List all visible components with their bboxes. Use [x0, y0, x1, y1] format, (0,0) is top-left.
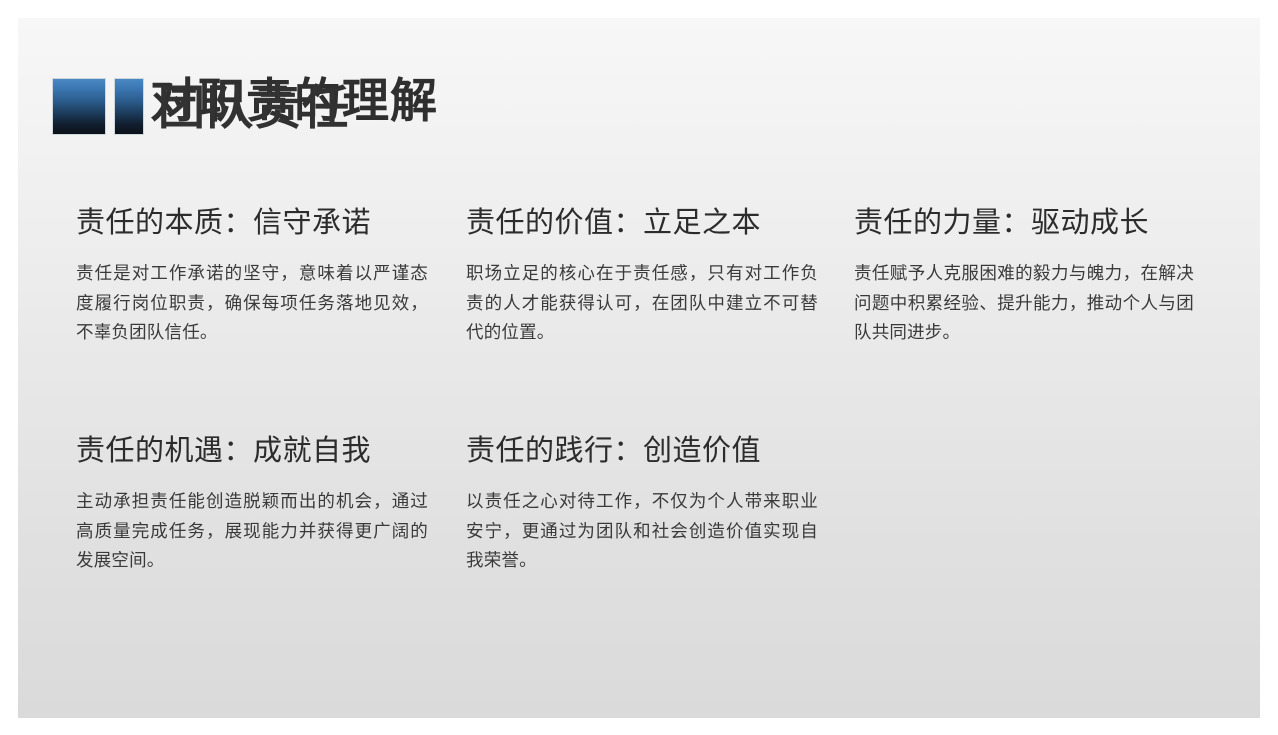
card-body: 职场立足的核心在于责任感，只有对工作负责的人才能获得认可，在团队中建立不可替代的…	[466, 259, 818, 348]
card-title: 责任的价值：立足之本	[466, 203, 836, 243]
content-card-2: 责任的价值：立足之本 职场立足的核心在于责任感，只有对工作负责的人才能获得认可，…	[466, 203, 854, 431]
content-card-1: 责任的本质：信守承诺 责任是对工作承诺的坚守，意味着以严谨态度履行岗位职责，确保…	[76, 203, 466, 431]
title-accent-decoration	[52, 78, 144, 135]
card-body: 主动承担责任能创造脱颖而出的机会，通过高质量完成任务，展现能力并获得更广阔的发展…	[76, 487, 428, 576]
slide-title-area: 对职责的理解 团队责任	[34, 58, 1234, 148]
accent-square-large-icon	[52, 78, 106, 135]
page-title-overlay: 团队责任	[158, 80, 350, 136]
content-grid: 责任的本质：信守承诺 责任是对工作承诺的坚守，意味着以严谨态度履行岗位职责，确保…	[76, 203, 1226, 576]
card-title: 责任的力量：驱动成长	[854, 203, 1208, 243]
card-body: 以责任之心对待工作，不仅为个人带来职业安宁，更通过为团队和社会创造价值实现自我荣…	[466, 487, 818, 576]
card-title: 责任的践行：创造价值	[466, 431, 836, 471]
accent-square-small-icon	[114, 78, 144, 135]
content-card-4: 责任的机遇：成就自我 主动承担责任能创造脱颖而出的机会，通过高质量完成任务，展现…	[76, 431, 466, 576]
slide-root: 对职责的理解 团队责任 责任的本质：信守承诺 责任是对工作承诺的坚守，意味着以严…	[0, 0, 1278, 735]
content-card-3: 责任的力量：驱动成长 责任赋予人克服困难的毅力与魄力，在解决问题中积累经验、提升…	[854, 203, 1226, 431]
title-text-stack: 对职责的理解 团队责任	[144, 58, 1044, 148]
slide-canvas: 对职责的理解 团队责任 责任的本质：信守承诺 责任是对工作承诺的坚守，意味着以严…	[18, 18, 1260, 718]
card-body: 责任赋予人克服困难的毅力与魄力，在解决问题中积累经验、提升能力，推动个人与团队共…	[854, 259, 1194, 348]
card-title: 责任的机遇：成就自我	[76, 431, 448, 471]
content-card-5: 责任的践行：创造价值 以责任之心对待工作，不仅为个人带来职业安宁，更通过为团队和…	[466, 431, 854, 576]
card-body: 责任是对工作承诺的坚守，意味着以严谨态度履行岗位职责，确保每项任务落地见效，不辜…	[76, 259, 428, 348]
card-title: 责任的本质：信守承诺	[76, 203, 448, 243]
